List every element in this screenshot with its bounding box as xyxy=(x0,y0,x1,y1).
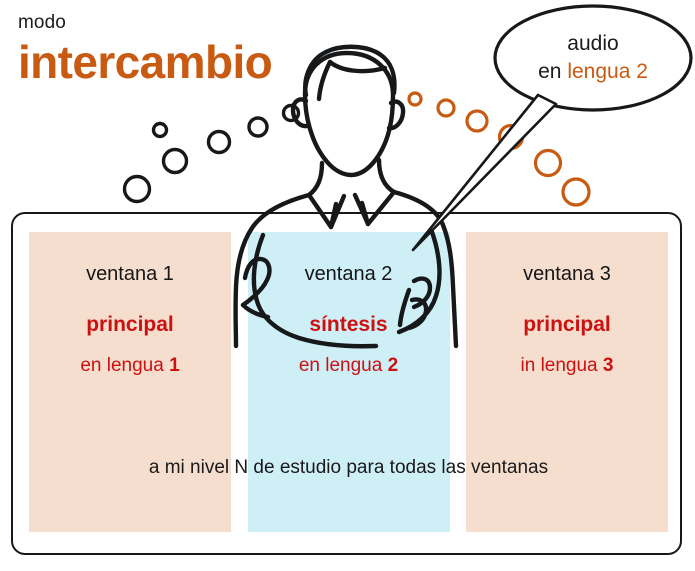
black-circle-icon xyxy=(154,124,167,137)
window-2-language-prefix: en lengua xyxy=(299,355,388,376)
window-column-3[interactable]: ventana 3 principal in lengua 3 xyxy=(466,232,668,532)
speech-bubble-text: audio en lengua 2 xyxy=(494,6,692,110)
orange-circle-icon xyxy=(438,100,454,116)
window-3-language-number: 3 xyxy=(603,355,614,376)
window-3-title: ventana 3 xyxy=(466,262,668,286)
black-circle-icon xyxy=(164,150,187,173)
orange-circle-icon xyxy=(536,151,561,176)
orange-circle-icon xyxy=(563,179,589,205)
orange-circle-icon xyxy=(500,126,523,149)
windows-columns-row: ventana 1 principal en lengua 1 ventana … xyxy=(29,232,668,532)
window-2-role: síntesis xyxy=(248,312,450,337)
page-title: intercambio xyxy=(18,36,272,88)
orange-circle-icon xyxy=(409,93,421,105)
black-circle-icon xyxy=(125,177,150,202)
black-circle-icon xyxy=(209,132,230,153)
speech-bubble-line-1: audio xyxy=(567,30,618,58)
card-footnote: a mi nivel N de estudio para todas las v… xyxy=(13,456,684,480)
window-2-title: ventana 2 xyxy=(248,262,450,286)
window-3-role: principal xyxy=(466,312,668,337)
modo-kicker-label: modo xyxy=(18,12,272,34)
speech-bubble: audio en lengua 2 xyxy=(494,6,692,110)
heading-block: modo intercambio xyxy=(18,12,272,88)
window-1-role: principal xyxy=(29,312,231,337)
speech-bubble-line-2: en lengua 2 xyxy=(538,58,648,86)
black-circle-trail xyxy=(125,106,299,202)
window-3-language: in lengua 3 xyxy=(466,354,668,377)
window-1-language-prefix: en lengua xyxy=(80,355,169,376)
black-circle-icon xyxy=(284,106,299,121)
window-column-1[interactable]: ventana 1 principal en lengua 1 xyxy=(29,232,231,532)
window-1-language-number: 1 xyxy=(169,355,180,376)
windows-card: ventana 1 principal en lengua 1 ventana … xyxy=(11,212,682,555)
window-1-language: en lengua 1 xyxy=(29,354,231,377)
black-circle-icon xyxy=(249,118,267,136)
window-1-title: ventana 1 xyxy=(29,262,231,286)
speech-bubble-line-2-prefix: en xyxy=(538,60,567,83)
window-column-2[interactable]: ventana 2 síntesis en lengua 2 xyxy=(248,232,450,532)
orange-circle-icon xyxy=(467,111,487,131)
speech-bubble-line-2-highlight: lengua 2 xyxy=(567,60,648,83)
window-2-language: en lengua 2 xyxy=(248,354,450,377)
window-3-language-prefix: in lengua xyxy=(521,355,603,376)
window-2-language-number: 2 xyxy=(388,355,399,376)
